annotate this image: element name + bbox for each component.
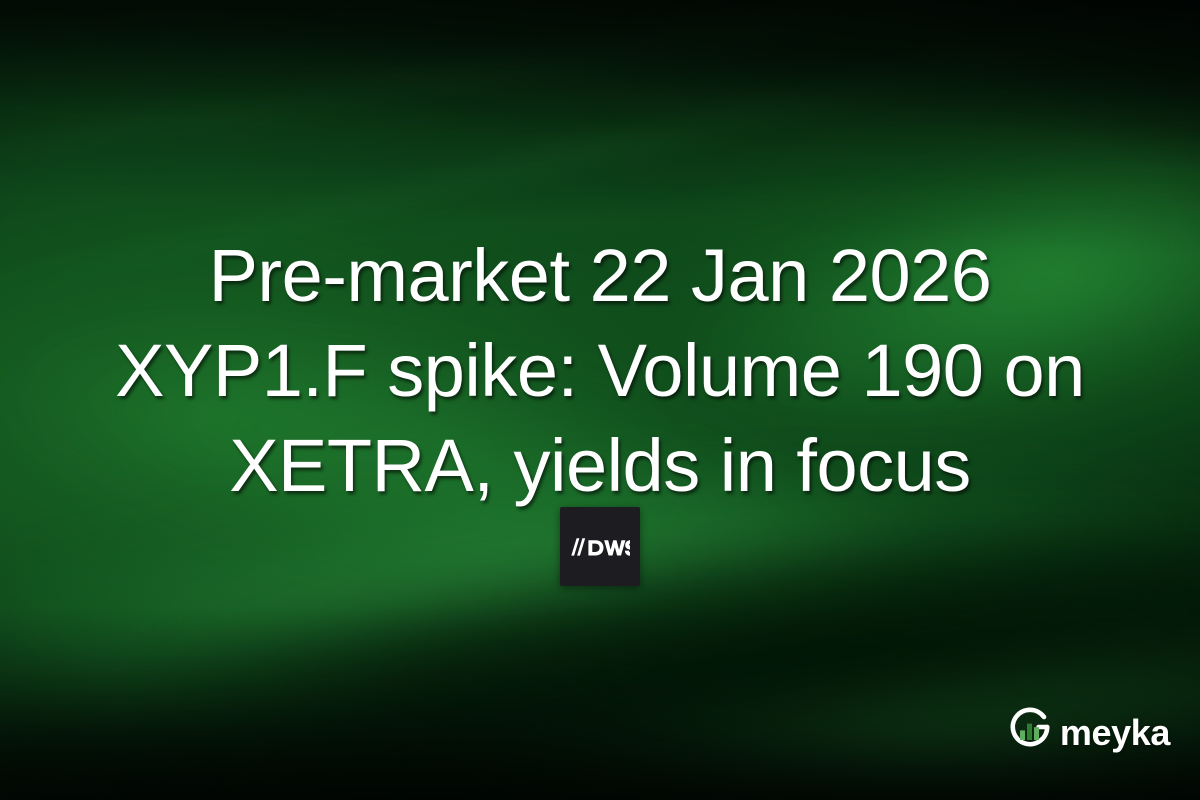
headline-line-1: Pre-market 22 Jan 2026	[0, 228, 1200, 323]
brand-name: meyka	[1060, 715, 1170, 751]
wave-ribbon-light-lower	[113, 573, 1200, 800]
light-streak-1	[0, 0, 1200, 208]
company-logo-dws	[560, 507, 640, 586]
headline-line-2: XYP1.F spike: Volume 190 on	[0, 323, 1200, 418]
headline: Pre-market 22 Jan 2026 XYP1.F spike: Vol…	[0, 228, 1200, 513]
social-share-card: Pre-market 22 Jan 2026 XYP1.F spike: Vol…	[0, 0, 1200, 800]
brand-lockup-meyka: meyka	[1007, 707, 1170, 758]
light-streak-3	[0, 0, 1200, 209]
meyka-logo-icon	[1007, 707, 1053, 758]
headline-line-3: XETRA, yields in focus	[0, 418, 1200, 513]
dws-logo-icon	[570, 536, 630, 558]
